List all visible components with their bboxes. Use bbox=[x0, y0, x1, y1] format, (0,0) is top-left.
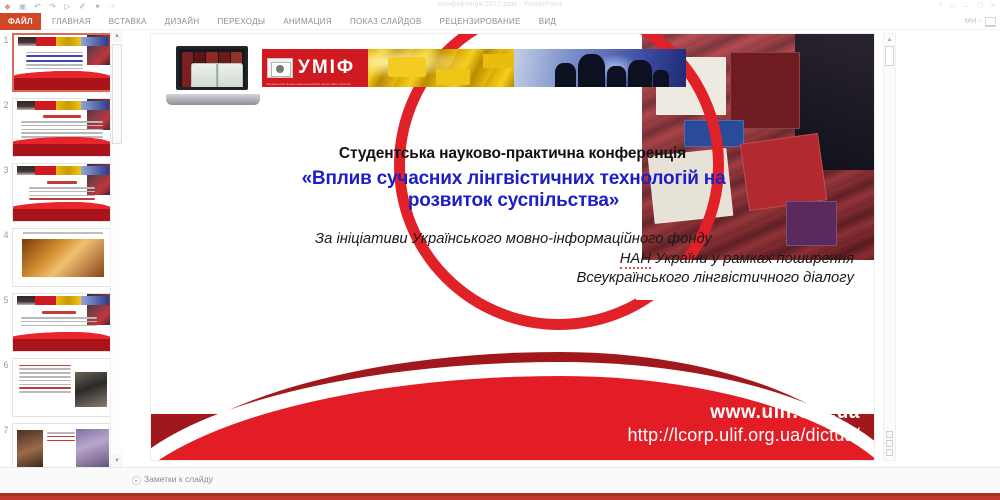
tab-insert[interactable]: ВСТАВКА bbox=[100, 13, 156, 30]
slide-thumbnail-3[interactable] bbox=[12, 163, 114, 222]
slide-thumbnail-4[interactable] bbox=[12, 228, 114, 287]
user-initials[interactable]: МН - bbox=[965, 18, 982, 25]
laptop-with-books-image bbox=[166, 44, 262, 126]
banner-mini bbox=[17, 296, 109, 305]
slide-number: 1 bbox=[0, 33, 12, 45]
text-line bbox=[19, 391, 71, 393]
silhouette bbox=[653, 70, 668, 87]
thumbnail-content bbox=[13, 294, 113, 351]
title-line bbox=[47, 181, 77, 184]
tab-home[interactable]: ГЛАВНАЯ bbox=[43, 13, 100, 30]
text-line bbox=[29, 198, 95, 200]
silhouette bbox=[628, 60, 652, 87]
text-lines-mini bbox=[21, 311, 97, 328]
tab-animations[interactable]: АНИМАЦИЯ bbox=[274, 13, 341, 30]
text-line bbox=[21, 132, 103, 134]
slide-thumbnail-6[interactable] bbox=[12, 358, 114, 417]
umif-logo-mini bbox=[35, 101, 55, 110]
text-line bbox=[21, 325, 97, 327]
swoosh-mini bbox=[13, 332, 113, 351]
body-line-3: Всеукраїнського лінгвістичного діалогу bbox=[173, 269, 854, 289]
bottom-decoration: www.ulif.org.ua http://lcorp.ulif.org.ua… bbox=[151, 318, 874, 460]
text-line bbox=[19, 384, 71, 386]
thumbnail-scrollbar[interactable]: ▲ ▼ bbox=[110, 30, 122, 467]
next-slide-button[interactable] bbox=[886, 440, 893, 447]
list-item[interactable]: 3 bbox=[0, 160, 122, 225]
chevron-up-icon[interactable]: ▲ bbox=[884, 34, 895, 45]
text-line bbox=[26, 68, 83, 70]
chevron-up-icon[interactable]: ▲ bbox=[111, 30, 122, 42]
list-item[interactable]: 4 bbox=[0, 225, 122, 290]
swoosh-mini bbox=[13, 202, 113, 221]
keyboard-mini bbox=[56, 166, 82, 175]
scrollbar-thumb[interactable] bbox=[885, 46, 894, 66]
text-line bbox=[21, 321, 97, 323]
ribbon-tab-bar: ФАЙЛ ГЛАВНАЯ ВСТАВКА ДИЗАЙН ПЕРЕХОДЫ АНИ… bbox=[0, 13, 1000, 30]
body-line-2: НАН України у рамках поширення bbox=[173, 250, 854, 270]
text-line bbox=[19, 376, 71, 378]
laptop-base bbox=[166, 94, 260, 105]
text-line bbox=[26, 52, 83, 54]
text-line bbox=[21, 121, 103, 123]
silhouette bbox=[555, 63, 576, 87]
text-line bbox=[21, 317, 97, 319]
audience-mini bbox=[81, 166, 109, 175]
slide-number: 2 bbox=[0, 98, 12, 110]
classroom-photo-mini bbox=[22, 239, 104, 277]
text-line bbox=[29, 187, 95, 189]
slide-number: 7 bbox=[0, 423, 12, 435]
body-line-1: За ініціативи Українського мовно-інформа… bbox=[173, 230, 854, 250]
tab-transitions[interactable]: ПЕРЕХОДЫ bbox=[208, 13, 274, 30]
window-controls: ? ▭ — ❐ ✕ bbox=[938, 0, 996, 13]
text-line bbox=[21, 125, 103, 127]
tab-view[interactable]: ВИД bbox=[530, 13, 565, 30]
list-item[interactable]: 7 bbox=[0, 420, 122, 467]
text-line bbox=[26, 55, 83, 57]
previous-slide-button[interactable] bbox=[886, 431, 893, 438]
slide-number: 3 bbox=[0, 163, 12, 175]
text-line bbox=[47, 432, 75, 434]
umif-logo-mini bbox=[35, 166, 55, 175]
thumbnail-content bbox=[13, 424, 113, 467]
banner-mini bbox=[17, 101, 109, 110]
umif-emblem-icon bbox=[267, 58, 293, 78]
keyboard-mini bbox=[56, 101, 82, 110]
slide-title-line-1: «Вплив сучасних лінгвістичних технологій… bbox=[171, 168, 856, 190]
ribbon-right-controls: МН - bbox=[965, 13, 996, 30]
thumbnail-content bbox=[14, 35, 112, 90]
swoosh-mini bbox=[13, 137, 113, 156]
slide-thumbnail-7[interactable] bbox=[12, 423, 114, 467]
keyboard-mini bbox=[56, 296, 82, 305]
text-line bbox=[21, 129, 103, 131]
notes-placeholder[interactable]: Заметки к слайду bbox=[144, 474, 213, 484]
laptop-mini bbox=[17, 101, 35, 110]
thumbnail-content bbox=[13, 229, 113, 286]
slide-editing-area[interactable]: УМІФ Український мовно-інформаційний фон… bbox=[134, 30, 1000, 467]
thumbnail-content bbox=[13, 164, 113, 221]
thumbnail-content bbox=[13, 359, 113, 416]
notes-pane[interactable]: ▸ Заметки к слайду bbox=[0, 467, 1000, 493]
tab-design[interactable]: ДИЗАЙН bbox=[156, 13, 209, 30]
slide-thumbnail-1[interactable] bbox=[12, 33, 114, 92]
open-book bbox=[191, 63, 243, 89]
umif-logo-mini bbox=[36, 37, 56, 46]
help-icon[interactable]: ? bbox=[938, 3, 942, 10]
slide-title-quoted[interactable]: «Вплив сучасних лінгвістичних технологій… bbox=[171, 168, 856, 213]
status-bar-accent bbox=[0, 493, 1000, 496]
text-line bbox=[19, 372, 71, 374]
audience-mini bbox=[81, 296, 109, 305]
scroll-nav-buttons[interactable] bbox=[884, 429, 895, 458]
ribbon-display-options-icon[interactable]: ▭ bbox=[949, 3, 956, 10]
umif-logo-subtitle: Український мовно-інформаційний фонд НАН… bbox=[266, 82, 365, 86]
list-item[interactable]: 5 bbox=[0, 290, 122, 355]
scroll-down-button[interactable] bbox=[886, 449, 893, 456]
slide-thumbnail-2[interactable] bbox=[12, 98, 114, 157]
book-stack bbox=[730, 52, 800, 129]
list-item[interactable]: 6 bbox=[0, 355, 122, 420]
list-item[interactable]: 2 bbox=[0, 95, 122, 160]
list-item[interactable]: 1 bbox=[0, 30, 122, 95]
expand-notes-icon[interactable]: ▸ bbox=[132, 476, 141, 485]
slide-thumbnail-5[interactable] bbox=[12, 293, 114, 352]
text-line bbox=[29, 191, 95, 193]
footer-urls: www.ulif.org.ua http://lcorp.ulif.org.ua… bbox=[627, 402, 860, 446]
title-line bbox=[42, 311, 77, 314]
text-line bbox=[47, 440, 75, 442]
slide-heading[interactable]: Студентська науково-практична конференці… bbox=[151, 145, 874, 163]
body-line-2-rest: України у рамках поширення bbox=[651, 251, 854, 267]
slide-number: 4 bbox=[0, 228, 12, 240]
laptop-mini bbox=[18, 37, 36, 46]
text-line bbox=[19, 380, 71, 382]
ribbon-tabs: ФАЙЛ ГЛАВНАЯ ВСТАВКА ДИЗАЙН ПЕРЕХОДЫ АНИ… bbox=[0, 13, 565, 30]
text-line bbox=[29, 195, 95, 197]
slide-number: 6 bbox=[0, 358, 12, 370]
tab-slideshow[interactable]: ПОКАЗ СЛАЙДОВ bbox=[341, 13, 431, 30]
silhouette bbox=[578, 54, 606, 87]
umif-logo-mini bbox=[35, 296, 55, 305]
close-icon[interactable]: ✕ bbox=[990, 3, 996, 10]
silhouette bbox=[607, 66, 626, 87]
slide-title-line-2: розвиток суспільства» bbox=[171, 190, 856, 212]
slide-scrollbar[interactable]: ▲ bbox=[883, 33, 896, 461]
slide-number: 5 bbox=[0, 293, 12, 305]
header-line-mini bbox=[23, 232, 103, 235]
window-title: Конференція 2017.pptx - PowerPoint bbox=[0, 1, 1000, 8]
banner-mini bbox=[18, 37, 108, 46]
yellow-keyboard-keys-image bbox=[368, 49, 514, 87]
status-bar bbox=[0, 493, 1000, 500]
text-lines-mini bbox=[47, 432, 75, 443]
text-line bbox=[19, 368, 71, 370]
title-bar: ◆ ▣ ↶ ↷ ▷ ✐ ▾ ☞ Конференція 2017.pptx - … bbox=[0, 0, 1000, 14]
text-line bbox=[19, 365, 71, 367]
blue-audience-silhouette-image bbox=[514, 49, 686, 87]
laptop-mini bbox=[17, 296, 35, 305]
text-lines-mini bbox=[29, 181, 95, 202]
workspace: 1 bbox=[0, 30, 1000, 467]
text-line bbox=[26, 60, 83, 62]
share-icon[interactable] bbox=[985, 17, 996, 27]
title-line bbox=[43, 115, 81, 118]
thumbnail-content bbox=[13, 99, 113, 156]
umif-logo-text: УМІФ bbox=[298, 57, 355, 79]
header-banner: УМІФ Український мовно-інформаційний фон… bbox=[166, 47, 686, 89]
tab-review[interactable]: РЕЦЕНЗИРОВАНИЕ bbox=[431, 13, 530, 30]
text-lines-mini bbox=[26, 52, 83, 72]
audience-mini bbox=[81, 101, 109, 110]
swoosh-mini bbox=[14, 71, 112, 90]
restore-icon[interactable]: ❐ bbox=[977, 3, 983, 10]
spellcheck-underlined-word: НАН bbox=[620, 251, 651, 269]
umif-logo: УМІФ Український мовно-інформаційний фон… bbox=[262, 49, 368, 87]
keyboard-mini bbox=[56, 37, 81, 46]
slide-body-text[interactable]: За ініціативи Українського мовно-інформа… bbox=[173, 230, 858, 289]
slide-thumbnail-pane[interactable]: 1 bbox=[0, 30, 122, 467]
person-photo-mini bbox=[75, 372, 107, 407]
current-slide[interactable]: УМІФ Український мовно-інформаційний фон… bbox=[150, 33, 875, 461]
banner-mini bbox=[17, 166, 109, 175]
tab-file[interactable]: ФАЙЛ bbox=[0, 13, 41, 30]
scrollbar-thumb[interactable] bbox=[112, 44, 122, 144]
laptop-screen bbox=[176, 46, 248, 90]
audience-mini bbox=[81, 37, 108, 46]
powerpoint-window: ◆ ▣ ↶ ↷ ▷ ✐ ▾ ☞ Конференція 2017.pptx - … bbox=[0, 0, 1000, 500]
secondary-url[interactable]: http://lcorp.ulif.org.ua/dictua/ bbox=[627, 425, 860, 446]
laptop-mini bbox=[17, 166, 35, 175]
group-photo-mini bbox=[76, 429, 109, 467]
archive-photo-mini bbox=[17, 430, 43, 467]
text-line bbox=[26, 64, 83, 66]
chevron-down-icon[interactable]: ▼ bbox=[111, 455, 122, 467]
text-lines-mini bbox=[19, 365, 71, 395]
text-line bbox=[19, 387, 71, 389]
minimize-icon[interactable]: — bbox=[963, 3, 970, 10]
text-line bbox=[47, 436, 75, 438]
primary-url[interactable]: www.ulif.org.ua bbox=[627, 402, 860, 424]
